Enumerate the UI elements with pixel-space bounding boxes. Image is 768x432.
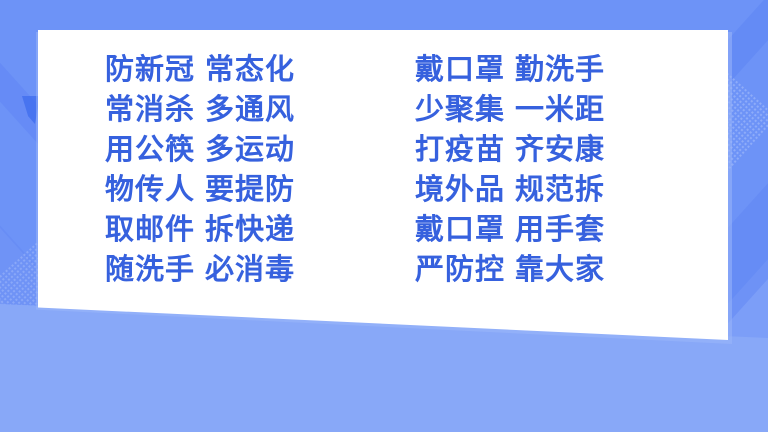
slogan-segment: 齐安康 bbox=[515, 136, 605, 165]
slogan-segment: 取邮件 bbox=[105, 216, 195, 245]
slogan-segment: 靠大家 bbox=[515, 256, 605, 285]
slogan-row: 常消杀 多通风 少聚集 一米距 bbox=[105, 90, 605, 130]
slogan-row: 随洗手 必消毒 严防控 靠大家 bbox=[105, 250, 605, 290]
slogan-left-line: 常消杀 多通风 bbox=[105, 96, 310, 125]
slogan-segment: 用手套 bbox=[515, 216, 605, 245]
slogan-right-line: 戴口罩 勤洗手 bbox=[393, 56, 605, 85]
slogan-left-line: 防新冠 常态化 bbox=[105, 56, 310, 85]
slogan-segment: 打疫苗 bbox=[415, 136, 505, 165]
slogan-row: 物传人 要提防 境外品 规范拆 bbox=[105, 170, 605, 210]
slogan-left-line: 随洗手 必消毒 bbox=[105, 256, 310, 285]
slogan-segment: 必消毒 bbox=[205, 256, 295, 285]
slogan-segment: 防新冠 bbox=[105, 56, 195, 85]
slogan-grid: 防新冠 常态化 戴口罩 勤洗手 常消杀 多通风 少聚集 一米距 用公筷 多运动 bbox=[105, 50, 605, 290]
slogan-segment: 多通风 bbox=[205, 96, 295, 125]
slogan-segment: 拆快递 bbox=[205, 216, 295, 245]
slogan-segment: 物传人 bbox=[105, 176, 195, 205]
slogan-segment: 少聚集 bbox=[415, 96, 505, 125]
slogan-row: 用公筷 多运动 打疫苗 齐安康 bbox=[105, 130, 605, 170]
slogan-segment: 常消杀 bbox=[105, 96, 195, 125]
slogan-right-line: 戴口罩 用手套 bbox=[393, 216, 605, 245]
slogan-segment: 一米距 bbox=[515, 96, 605, 125]
slogan-segment: 随洗手 bbox=[105, 256, 195, 285]
slogan-segment: 规范拆 bbox=[515, 176, 605, 205]
slogan-left-line: 物传人 要提防 bbox=[105, 176, 310, 205]
slogan-segment: 常态化 bbox=[205, 56, 295, 85]
poster-stage: 防新冠 常态化 戴口罩 勤洗手 常消杀 多通风 少聚集 一米距 用公筷 多运动 bbox=[0, 0, 768, 432]
slogan-right-line: 境外品 规范拆 bbox=[393, 176, 605, 205]
slogan-segment: 用公筷 bbox=[105, 136, 195, 165]
slogan-segment: 严防控 bbox=[415, 256, 505, 285]
slogan-segment: 戴口罩 bbox=[415, 216, 505, 245]
slogan-right-line: 打疫苗 齐安康 bbox=[393, 136, 605, 165]
slogan-segment: 勤洗手 bbox=[515, 56, 605, 85]
slogan-segment: 戴口罩 bbox=[415, 56, 505, 85]
slogan-right-line: 严防控 靠大家 bbox=[393, 256, 605, 285]
slogan-segment: 要提防 bbox=[205, 176, 295, 205]
slogan-segment: 多运动 bbox=[205, 136, 295, 165]
slogan-row: 取邮件 拆快递 戴口罩 用手套 bbox=[105, 210, 605, 250]
slogan-row: 防新冠 常态化 戴口罩 勤洗手 bbox=[105, 50, 605, 90]
slogan-left-line: 用公筷 多运动 bbox=[105, 136, 310, 165]
slogan-segment: 境外品 bbox=[415, 176, 505, 205]
slogan-left-line: 取邮件 拆快递 bbox=[105, 216, 310, 245]
slogan-right-line: 少聚集 一米距 bbox=[393, 96, 605, 125]
